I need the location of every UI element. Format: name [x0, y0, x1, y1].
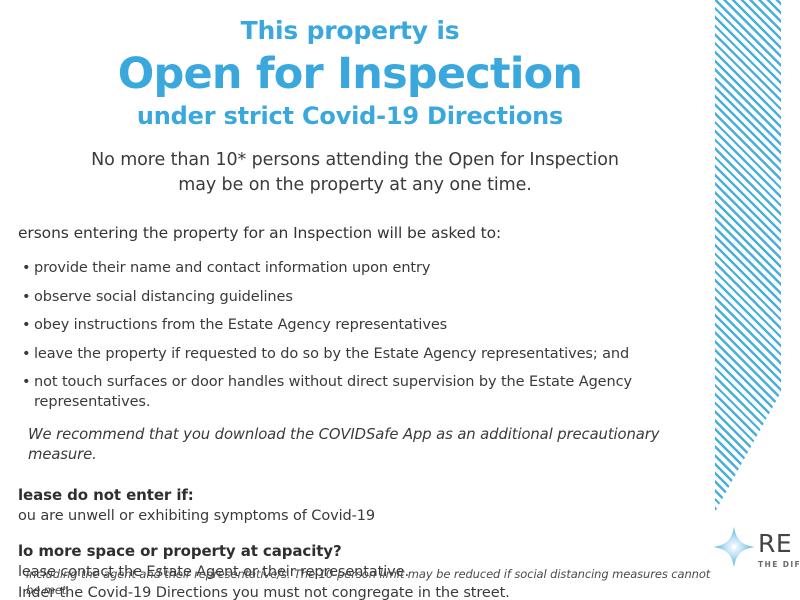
bullet-marker-icon: • — [22, 287, 30, 307]
capacity-statement-line-2: may be on the property at any one time. — [0, 173, 780, 198]
brand-tagline: THE DIF — [758, 559, 800, 570]
capacity-statement-line-1: No more than 10* persons attending the O… — [0, 148, 780, 173]
list-item: • obey instructions from the Estate Agen… — [0, 315, 714, 335]
list-item-label: obey instructions from the Estate Agency… — [34, 317, 447, 333]
covidsafe-recommendation: We recommend that you download the COVID… — [28, 425, 714, 465]
list-item-label: not touch surfaces or door handles witho… — [34, 374, 632, 410]
heading-line-1: This property is — [0, 16, 780, 46]
do-not-enter-notice: lease do not enter if: ou are unwell or … — [18, 485, 714, 527]
brand-name: RE — [758, 531, 800, 556]
do-not-enter-heading: lease do not enter if: — [18, 485, 714, 506]
list-item: • leave the property if requested to do … — [0, 344, 714, 364]
body-column: ersons entering the property for an Insp… — [0, 222, 714, 600]
list-item-label: provide their name and contact informati… — [34, 260, 430, 276]
requirements-list: • provide their name and contact informa… — [0, 258, 714, 412]
do-not-enter-line-1: ou are unwell or exhibiting symptoms of … — [18, 506, 714, 527]
list-item: • observe social distancing guidelines — [0, 287, 714, 307]
brand-text-block: RE THE DIF — [758, 525, 800, 570]
bullet-marker-icon: • — [22, 315, 30, 335]
capacity-statement: No more than 10* persons attending the O… — [0, 148, 780, 198]
list-item-label: leave the property if requested to do so… — [34, 346, 629, 362]
heading-block: This property is Open for Inspection und… — [0, 16, 780, 131]
capacity-notice-heading: lo more space or property at capacity? — [18, 541, 714, 562]
poster-canvas: This property is Open for Inspection und… — [0, 0, 800, 600]
requirements-intro: ersons entering the property for an Insp… — [18, 222, 714, 244]
brand-logo: RE THE DIF — [712, 512, 800, 582]
bullet-marker-icon: • — [22, 344, 30, 364]
bullet-marker-icon: • — [22, 372, 30, 392]
list-item: • not touch surfaces or door handles wit… — [0, 372, 714, 412]
footnote: including the agent and their representa… — [26, 566, 726, 598]
list-item-label: observe social distancing guidelines — [34, 289, 293, 305]
bullet-marker-icon: • — [22, 258, 30, 278]
list-item: • provide their name and contact informa… — [0, 258, 714, 278]
four-point-star-icon — [712, 525, 756, 569]
heading-line-2: Open for Inspection — [0, 48, 780, 100]
heading-line-3: under strict Covid-19 Directions — [0, 101, 780, 131]
